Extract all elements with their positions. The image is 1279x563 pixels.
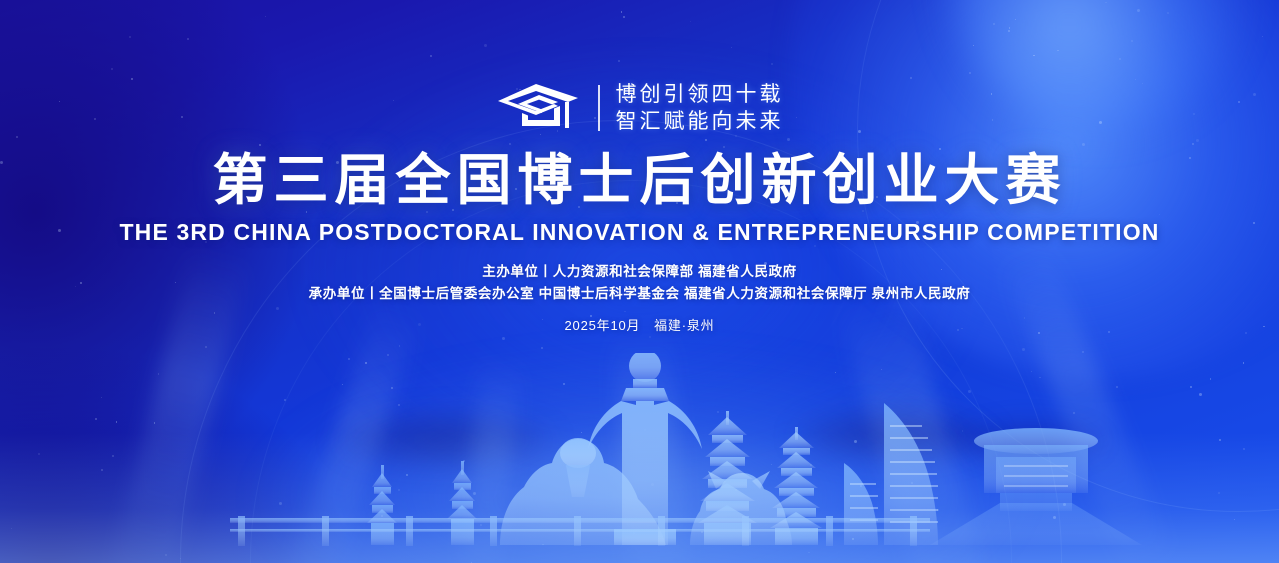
competition-banner: 博创引领四十载 智汇赋能向未来 第三届全国博士后创新创业大赛 THE 3RD C… (0, 0, 1279, 563)
logo-lockup: 博创引领四十载 智汇赋能向未来 (0, 82, 1279, 134)
banner-content: 博创引领四十载 智汇赋能向未来 第三届全国博士后创新创业大赛 THE 3RD C… (0, 0, 1279, 563)
slogan-line-1: 博创引领四十载 (616, 83, 784, 107)
page-subtitle-english: THE 3RD CHINA POSTDOCTORAL INNOVATION & … (0, 219, 1279, 246)
page-title: 第三届全国博士后创新创业大赛 (0, 150, 1279, 212)
slogan-line-2: 智汇赋能向未来 (616, 110, 784, 134)
logo-slogan: 博创引领四十载 智汇赋能向未来 (616, 83, 784, 133)
co-host-organizations: 承办单位丨全国博士后管委会办公室 中国博士后科学基金会 福建省人力资源和社会保障… (0, 283, 1279, 305)
date-location: 2025年10月 福建·泉州 (0, 315, 1279, 334)
host-organizations: 主办单位丨人力资源和社会保障部 福建省人民政府 (0, 261, 1279, 283)
organizer-block: 主办单位丨人力资源和社会保障部 福建省人民政府 承办单位丨全国博士后管委会办公室… (0, 261, 1279, 305)
graduation-cap-emblem (496, 82, 582, 134)
logo-divider (598, 85, 600, 131)
